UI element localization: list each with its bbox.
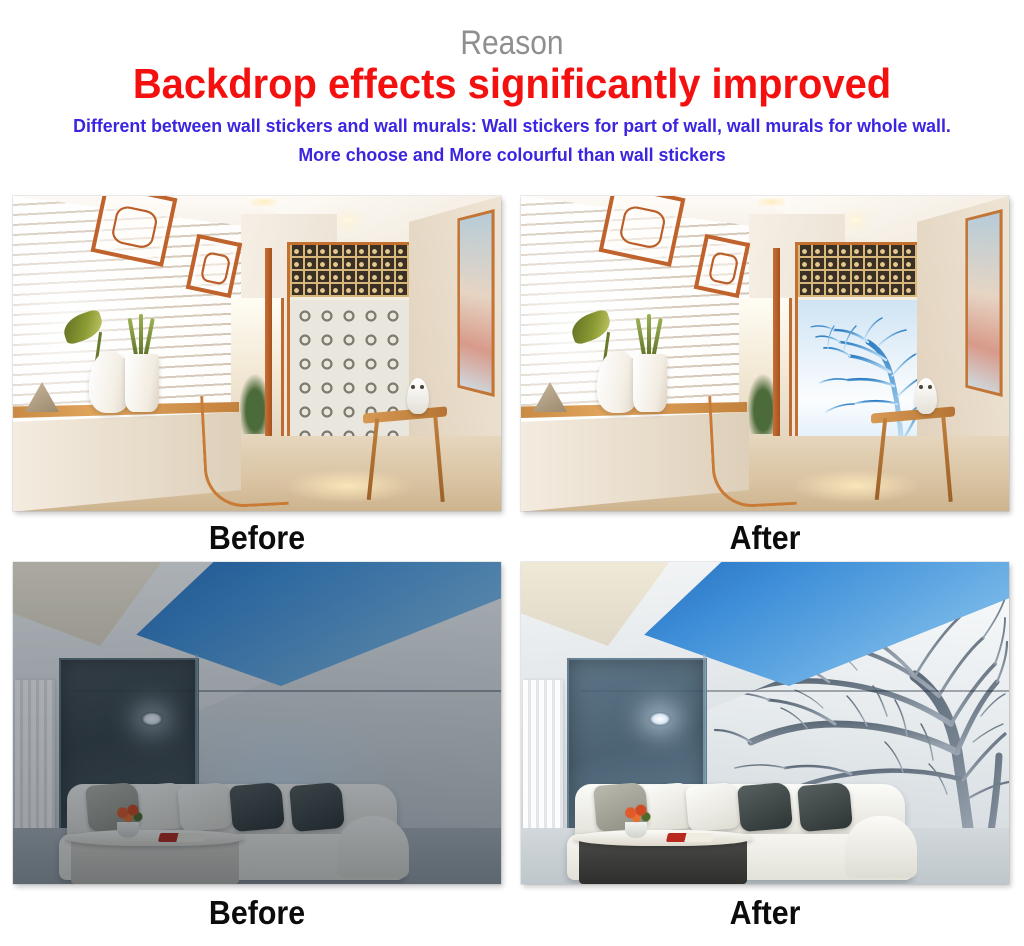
lattice-screen-pattern xyxy=(798,245,927,297)
comparison-row-hallway: Before xyxy=(0,196,1024,562)
dog-figurine xyxy=(407,378,429,414)
radiator xyxy=(523,680,563,850)
book xyxy=(158,833,206,842)
caption-after: After xyxy=(541,519,990,557)
caption-before: Before xyxy=(33,519,482,557)
sofa-arm xyxy=(337,816,409,878)
potted-grass xyxy=(129,314,157,358)
header-block: Reason Backdrop effects significantly im… xyxy=(0,0,1024,168)
sideboard-rail xyxy=(200,392,289,509)
panel-living-before: Before xyxy=(13,562,501,932)
coffee-table-top xyxy=(573,830,753,846)
photo-living-after xyxy=(521,562,1009,884)
panel-hallway-after: After xyxy=(521,196,1009,557)
cushion xyxy=(797,782,853,832)
kicker-text: Reason xyxy=(61,26,962,60)
dog-figurine xyxy=(915,378,937,414)
framed-artwork xyxy=(457,209,494,397)
potted-grass xyxy=(637,314,665,358)
sideboard-rail xyxy=(708,392,797,509)
cushion xyxy=(177,782,233,832)
photo-living-before xyxy=(13,562,501,884)
comparison-row-living-room: Before xyxy=(0,562,1024,946)
subtitle-line-1: Different between wall stickers and wall… xyxy=(20,112,1003,139)
floor-light-pool xyxy=(791,469,921,503)
ceiling-light xyxy=(759,198,785,206)
panel-living-after: After xyxy=(521,562,1009,932)
white-vase-small xyxy=(633,354,667,412)
subtitle-line-2: More choose and More colourful than wall… xyxy=(20,141,1003,168)
floor-light-pool xyxy=(283,469,413,503)
page-title: Backdrop effects significantly improved xyxy=(26,62,999,106)
cushion xyxy=(289,782,345,832)
white-vase-small xyxy=(125,354,159,412)
comparison-grid: Before xyxy=(0,196,1024,946)
panel-hallway-before: Before xyxy=(13,196,501,557)
lattice-screen-pattern xyxy=(290,245,419,297)
recessed-spotlight xyxy=(343,218,353,223)
sofa-arm xyxy=(845,816,917,878)
coffee-table-top xyxy=(65,830,245,846)
ceiling-light xyxy=(251,198,277,206)
photo-hallway-after xyxy=(521,196,1009,511)
flower-vase xyxy=(109,804,149,838)
framed-artwork xyxy=(965,209,1002,397)
caption-after: After xyxy=(541,894,990,932)
downlight-icon xyxy=(141,712,163,726)
recessed-spotlight xyxy=(851,218,861,223)
book xyxy=(666,833,714,842)
flower-vase xyxy=(617,804,657,838)
cushion xyxy=(685,782,741,832)
caption-before: Before xyxy=(33,894,482,932)
downlight-icon xyxy=(649,712,671,726)
cushion xyxy=(737,782,793,832)
cushion xyxy=(229,782,285,832)
radiator xyxy=(15,680,55,850)
photo-hallway-before xyxy=(13,196,501,511)
